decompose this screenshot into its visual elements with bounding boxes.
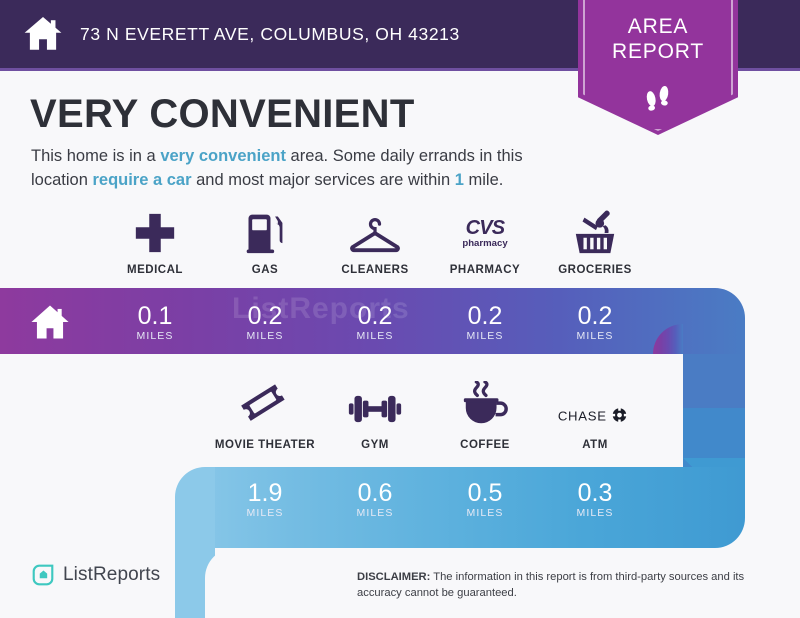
amenity-movie-theater: MOVIE THEATER: [210, 381, 320, 451]
distance-value: 1.9: [248, 480, 283, 506]
distance-cell: 0.2 MILES: [320, 290, 430, 354]
amenity-label: PHARMACY: [450, 264, 520, 276]
top-amenity-icons: MEDICAL GAS CLEANERS: [100, 206, 720, 276]
distance-unit: MILES: [466, 330, 503, 342]
distance-value: 0.2: [468, 303, 503, 329]
listreports-logo-icon: [30, 562, 56, 588]
page-subtitle: This home is in a very convenient area. …: [31, 144, 576, 192]
gas-pump-icon: [243, 206, 287, 256]
distance-unit: MILES: [246, 507, 283, 519]
amenity-coffee: COFFEE: [430, 381, 540, 451]
area-report-badge: AREA REPORT: [578, 0, 738, 135]
distance-value: 0.2: [358, 303, 393, 329]
distance-cell: 0.2 MILES: [210, 290, 320, 354]
distance-value: 0.5: [468, 480, 503, 506]
distance-cell: 0.6 MILES: [320, 467, 430, 531]
amenity-groceries: GROCERIES: [540, 206, 650, 276]
disclaimer: DISCLAIMER: The information in this repo…: [357, 570, 772, 601]
bottom-amenity-icons: MOVIE THEATER GYM: [210, 381, 720, 451]
amenity-gym: GYM: [320, 381, 430, 451]
subtitle-highlight-2: require a car: [92, 171, 191, 189]
movie-ticket-icon: [239, 381, 291, 431]
distance-unit: MILES: [356, 330, 393, 342]
distance-unit: MILES: [576, 330, 613, 342]
cvs-pharmacy-logo: CVS pharmacy: [453, 206, 517, 256]
listreports-logo-text: ListReports: [63, 564, 160, 586]
property-address: 73 N EVERETT AVE, COLUMBUS, OH 43213: [80, 24, 460, 45]
medical-cross-icon: [132, 206, 178, 256]
badge-line-2: REPORT: [578, 39, 738, 64]
badge-label: AREA REPORT: [578, 14, 738, 64]
amenity-label: MEDICAL: [127, 264, 183, 276]
amenity-medical: MEDICAL: [100, 206, 210, 276]
svg-text:CVS: CVS: [466, 217, 506, 239]
area-report-page: 73 N EVERETT AVE, COLUMBUS, OH 43213 ARE…: [0, 0, 800, 618]
badge-line-1: AREA: [578, 14, 738, 39]
distance-value: 0.3: [578, 480, 613, 506]
amenity-gas: GAS: [210, 206, 320, 276]
svg-text:pharmacy: pharmacy: [462, 238, 508, 249]
distance-unit: MILES: [576, 507, 613, 519]
coffee-cup-icon: [460, 381, 510, 431]
chase-bank-logo: CHASE: [556, 381, 634, 431]
distance-unit: MILES: [466, 507, 503, 519]
amenity-label: CLEANERS: [341, 264, 408, 276]
bottom-distance-values: 1.9 MILES 0.6 MILES 0.5 MILES 0.3 MILES: [210, 467, 650, 531]
distance-cell: 0.1 MILES: [100, 290, 210, 354]
house-icon: [22, 13, 64, 55]
subtitle-part-4: mile.: [464, 171, 503, 189]
amenity-label: ATM: [582, 439, 608, 451]
disclaimer-label: DISCLAIMER:: [357, 571, 430, 583]
amenity-label: COFFEE: [460, 439, 510, 451]
hanger-icon: [348, 206, 402, 256]
subtitle-highlight-1: very convenient: [160, 147, 286, 165]
top-distance-values: 0.1 MILES 0.2 MILES 0.2 MILES 0.2 MILES …: [100, 290, 650, 354]
distance-value: 0.6: [358, 480, 393, 506]
amenity-label: MOVIE THEATER: [215, 439, 315, 451]
distance-value: 0.1: [138, 303, 173, 329]
distance-unit: MILES: [136, 330, 173, 342]
distance-cell: 0.2 MILES: [430, 290, 540, 354]
distance-cell: 0.2 MILES: [540, 290, 650, 354]
amenity-label: GAS: [252, 264, 278, 276]
distance-value: 0.2: [248, 303, 283, 329]
grocery-basket-icon: [571, 206, 619, 256]
footprints-icon: [641, 80, 675, 114]
subtitle-part-3: and most major services are within: [192, 171, 455, 189]
distance-value: 0.2: [578, 303, 613, 329]
distance-cell: 1.9 MILES: [210, 467, 320, 531]
page-title: VERY CONVENIENT: [30, 92, 415, 137]
svg-text:CHASE: CHASE: [558, 409, 607, 424]
amenity-label: GYM: [361, 439, 389, 451]
distance-unit: MILES: [246, 330, 283, 342]
subtitle-highlight-3: 1: [455, 171, 464, 189]
listreports-logo: ListReports: [30, 562, 160, 588]
amenity-atm: CHASE ATM: [540, 381, 650, 451]
distance-unit: MILES: [356, 507, 393, 519]
subtitle-part-1: This home is in a: [31, 147, 160, 165]
distance-cell: 0.5 MILES: [430, 467, 540, 531]
home-marker-icon: [28, 300, 72, 344]
amenity-label: GROCERIES: [558, 264, 632, 276]
amenity-pharmacy: CVS pharmacy PHARMACY: [430, 206, 540, 276]
dumbbell-icon: [347, 381, 403, 431]
amenity-cleaners: CLEANERS: [320, 206, 430, 276]
distance-cell: 0.3 MILES: [540, 467, 650, 531]
